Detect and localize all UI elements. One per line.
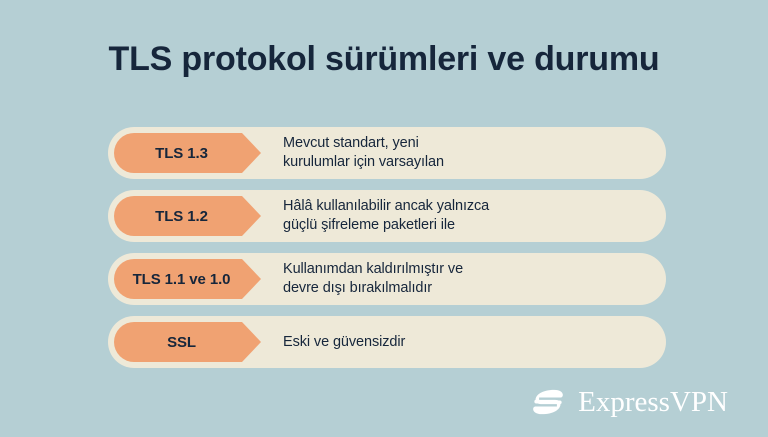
protocol-badge-label: TLS 1.1 ve 1.0 [133,271,231,288]
protocol-badge: TLS 1.1 ve 1.0 [114,259,261,299]
page-title: TLS protokol sürümleri ve durumu [0,38,768,80]
protocol-description: Kullanımdan kaldırılmıştır ve devre dışı… [261,260,666,298]
list-item: SSL Eski ve güvensizdir [108,316,666,368]
protocol-badge: SSL [114,322,261,362]
protocol-badge-label: TLS 1.2 [155,208,208,225]
list-item: TLS 1.3 Mevcut standart, yeni kurulumlar… [108,127,666,179]
protocol-description-line-2: kurulumlar için varsayılan [283,153,650,172]
protocol-description: Hâlâ kullanılabilir ancak yalnızca güçlü… [261,197,666,235]
protocol-description: Eski ve güvensizdir [261,333,666,352]
protocol-badge: TLS 1.2 [114,196,261,236]
expressvpn-wordmark: ExpressVPN [578,387,728,417]
protocol-badge-label: SSL [167,334,196,351]
expressvpn-e-mark-icon [529,383,567,421]
list-item: TLS 1.2 Hâlâ kullanılabilir ancak yalnız… [108,190,666,242]
protocol-description-line-1: Kullanımdan kaldırılmıştır ve [283,260,650,279]
protocol-description-line-1: Hâlâ kullanılabilir ancak yalnızca [283,197,650,216]
protocol-badge: TLS 1.3 [114,133,261,173]
protocol-description-line-1: Eski ve güvensizdir [283,333,650,352]
protocol-description-line-2: devre dışı bırakılmalıdır [283,279,650,298]
protocol-description-line-2: güçlü şifreleme paketleri ile [283,216,650,235]
protocol-badge-label: TLS 1.3 [155,145,208,162]
protocol-description-line-1: Mevcut standart, yeni [283,134,650,153]
infographic-canvas: TLS protokol sürümleri ve durumu TLS 1.3… [0,0,768,437]
expressvpn-logo: ExpressVPN [529,383,728,421]
protocol-list: TLS 1.3 Mevcut standart, yeni kurulumlar… [108,127,666,379]
protocol-description: Mevcut standart, yeni kurulumlar için va… [261,134,666,172]
list-item: TLS 1.1 ve 1.0 Kullanımdan kaldırılmıştı… [108,253,666,305]
